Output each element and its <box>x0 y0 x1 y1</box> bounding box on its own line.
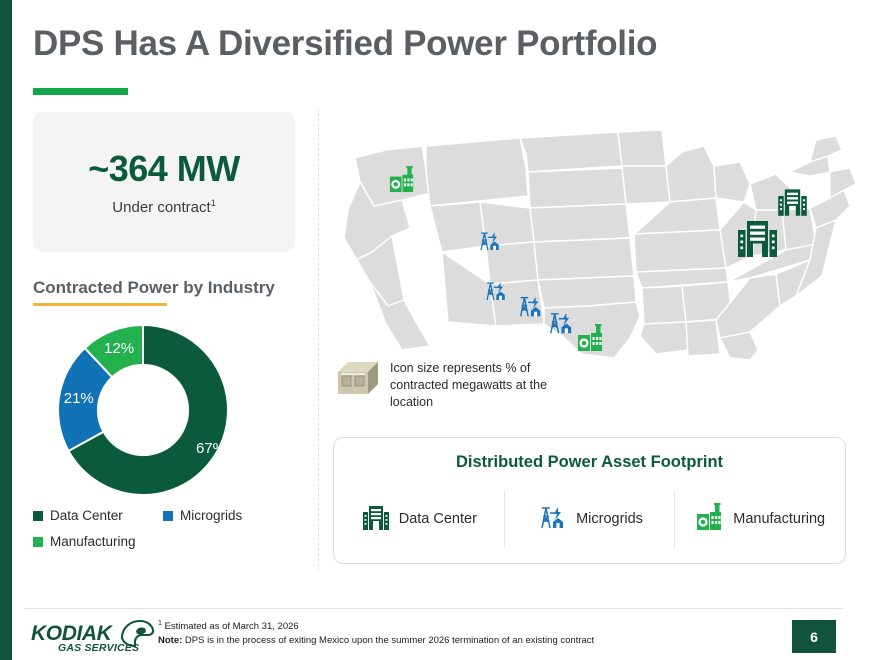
note-text: DPS is in the process of exiting Mexico … <box>185 635 594 646</box>
map-legend-note-text: Icon size represents % of contracted meg… <box>390 358 586 411</box>
kodiak-gas-services-logo: KODIAK GAS SERVICES <box>30 618 155 654</box>
footnote-line-2: Note: DPS is in the process of exiting M… <box>158 634 718 648</box>
title-underline-accent <box>33 88 128 95</box>
legend-swatch-manufacturing <box>33 537 43 547</box>
footprint-label-data-center: Data Center <box>399 511 477 527</box>
map-marker-microgrid-2[interactable] <box>476 228 503 253</box>
distributed-power-asset-footprint-panel: Distributed Power Asset Footprint <box>333 437 846 564</box>
legend-row-1: Data Center Microgrids <box>33 508 313 523</box>
footnote-marker: 1 <box>158 620 162 627</box>
contracted-power-donut-chart: 67%21%12% <box>55 322 270 497</box>
chart-legend: Data Center Microgrids Manufacturing <box>33 508 313 560</box>
legend-swatch-microgrids <box>163 511 173 521</box>
map-marker-datacenter-8[interactable] <box>735 215 780 260</box>
footprint-title: Distributed Power Asset Footprint <box>334 453 845 472</box>
legend-row-2: Manufacturing <box>33 534 313 549</box>
map-marker-microgrid-3[interactable] <box>482 278 509 303</box>
map-marker-microgrid-4[interactable] <box>515 292 545 320</box>
map-marker-manufacturing-6[interactable] <box>576 323 606 353</box>
footprint-label-manufacturing: Manufacturing <box>733 511 825 527</box>
kpi-label: Under contract1 <box>112 198 215 216</box>
kpi-label-text: Under contract <box>112 199 210 216</box>
legend-item-microgrids[interactable]: Microgrids <box>163 508 242 523</box>
footnote-line-1: 1 Estimated as of March 31, 2026 <box>158 619 718 634</box>
footprint-label-microgrids: Microgrids <box>576 511 643 527</box>
page-number-badge: 6 <box>792 620 836 653</box>
footnotes: 1 Estimated as of March 31, 2026 Note: D… <box>158 619 718 649</box>
kpi-value: ~364 MW <box>88 148 240 190</box>
footprint-item-manufacturing[interactable]: Manufacturing <box>674 490 845 548</box>
chart-title-underline-accent <box>33 303 167 306</box>
chart-title: Contracted Power by Industry <box>33 278 275 298</box>
slide-canvas: DPS Has A Diversified Power Portfolio ~3… <box>0 0 880 660</box>
legend-label-microgrids: Microgrids <box>180 508 242 523</box>
legend-swatch-data-center <box>33 511 43 521</box>
data-center-icon <box>361 502 391 536</box>
legend-label-manufacturing: Manufacturing <box>50 534 136 549</box>
footer-divider <box>25 608 843 609</box>
manufacturing-icon <box>695 502 725 536</box>
footprint-item-microgrids[interactable]: Microgrids <box>504 490 675 548</box>
legend-item-data-center[interactable]: Data Center <box>33 508 163 523</box>
page-title: DPS Has A Diversified Power Portfolio <box>33 24 657 64</box>
map-marker-manufacturing-1[interactable] <box>388 165 417 194</box>
left-accent-bar <box>0 0 12 660</box>
map-legend-note: Icon size represents % of contracted meg… <box>336 358 586 411</box>
map-marker-microgrid-5[interactable] <box>545 308 576 337</box>
footprint-item-data-center[interactable]: Data Center <box>334 490 504 548</box>
legend-label-data-center: Data Center <box>50 508 123 523</box>
map-marker-datacenter-7[interactable] <box>776 185 809 218</box>
legend-item-manufacturing[interactable]: Manufacturing <box>33 534 163 549</box>
column-divider <box>318 108 319 570</box>
kpi-footnote-marker: 1 <box>211 198 216 208</box>
note-label: Note: <box>158 635 182 646</box>
footprint-columns: Data Center <box>334 490 845 548</box>
microgrid-icon <box>536 502 568 536</box>
us-map <box>330 110 860 360</box>
footnote-1-text: Estimated as of March 31, 2026 <box>165 621 299 632</box>
equipment-box-icon <box>336 358 380 403</box>
kpi-card-under-contract: ~364 MW Under contract1 <box>33 112 295 252</box>
donut-svg <box>55 322 270 497</box>
